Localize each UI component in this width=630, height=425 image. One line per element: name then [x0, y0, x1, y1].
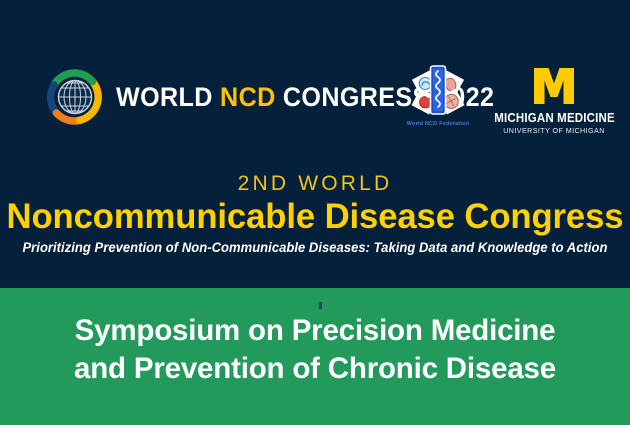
- star-of-life-medical-icon: [392, 60, 484, 120]
- conference-banner: WORLD NCD CONGRESS 2022: [0, 0, 630, 425]
- wordmark-part-1: WORLD: [116, 82, 220, 112]
- symposium-title: Symposium on Precision Medicine and Prev…: [0, 312, 630, 388]
- symposium-title-line-1: Symposium on Precision Medicine: [75, 314, 556, 347]
- world-ncd-federation-logo: World NCD Federation: [392, 60, 484, 138]
- page-title: Noncommunicable Disease Congress: [3, 198, 627, 236]
- green-banner-panel: Symposium on Precision Medicine and Prev…: [0, 288, 630, 425]
- tagline-text: Prioritizing Prevention of Non-Communica…: [9, 240, 620, 255]
- university-of-michigan-subtitle: UNIVERSITY OF MICHIGAN: [493, 126, 615, 135]
- federation-caption: World NCD Federation: [392, 121, 484, 127]
- eyebrow-text: 2ND WORLD: [0, 172, 630, 196]
- michigan-medicine-logo: MICHIGAN MEDICINE UNIVERSITY OF MICHIGAN: [489, 64, 619, 135]
- logo-strip: WORLD NCD CONGRESS 2022: [0, 58, 630, 140]
- globe-icon: [46, 68, 104, 126]
- michigan-medicine-name: MICHIGAN MEDICINE: [494, 111, 614, 125]
- capture-artifact-mark: [319, 302, 322, 309]
- symposium-title-line-2: and Prevention of Chronic Disease: [0, 350, 630, 388]
- wordmark-accent: NCD: [220, 82, 276, 112]
- michigan-block-m-icon: [532, 64, 576, 108]
